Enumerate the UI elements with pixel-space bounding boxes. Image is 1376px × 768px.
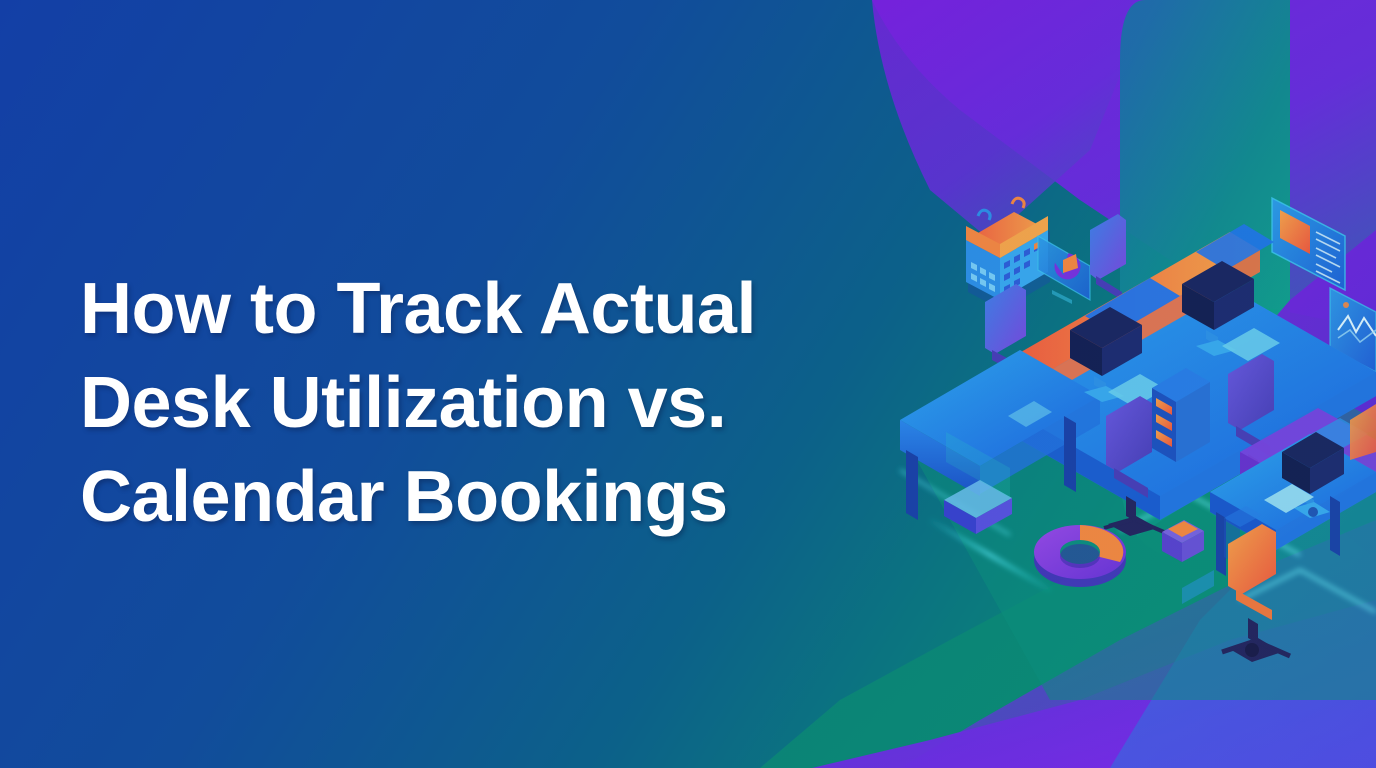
headline-line-3: Calendar Bookings (80, 450, 880, 544)
page-title: How to Track Actual Desk Utilization vs.… (80, 262, 880, 544)
headline-line-2: Desk Utilization vs. (80, 356, 880, 450)
headline-line-1: How to Track Actual (80, 262, 880, 356)
article-hero-banner: How to Track Actual Desk Utilization vs.… (0, 0, 1376, 768)
